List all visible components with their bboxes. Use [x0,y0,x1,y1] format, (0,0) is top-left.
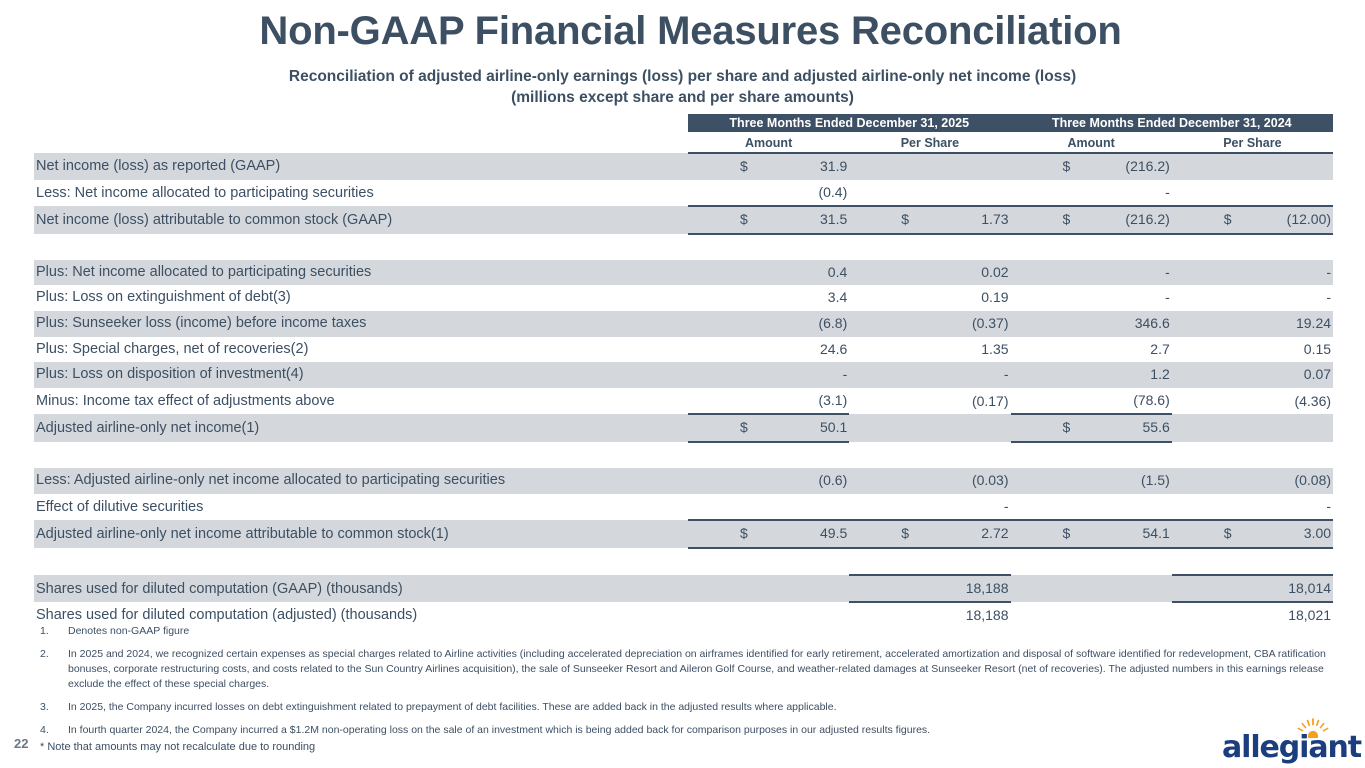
cell-value: 1.35 [981,341,1008,357]
cell-value: 50.1 [820,419,847,435]
table-cell: 24.6 [688,337,849,363]
spacer-row [34,442,1333,468]
cell-value: - [1165,289,1170,305]
cell-value: (216.2) [1125,158,1169,174]
cell-value: 31.9 [820,158,847,174]
table-cell: (0.17) [849,388,1010,415]
table-cell [688,494,849,521]
spacer-row [34,548,1333,575]
page-subtitle: Reconciliation of adjusted airline-only … [0,66,1365,109]
row-label: Adjusted airline-only net income attribu… [34,520,688,548]
table-cell [1011,575,1172,603]
currency-symbol: $ [1172,207,1232,233]
column-header-spacer [34,132,688,153]
table-cell [849,414,1010,442]
cell-value: (1.5) [1141,472,1170,488]
page-title: Non-GAAP Financial Measures Reconciliati… [0,8,1345,54]
table-cell: - [1011,180,1172,207]
table-cell: $50.1 [688,414,849,442]
table-cell: (0.08) [1172,468,1333,494]
footnote-number: 4. [34,723,68,738]
table-cell: $(12.00) [1172,206,1333,234]
table-cell [1172,180,1333,207]
row-label: Plus: Special charges, net of recoveries… [34,337,688,363]
table-cell: $55.6 [1011,414,1172,442]
table-row: Plus: Loss on extinguishment of debt(3)3… [34,285,1333,311]
currency-symbol: $ [1011,207,1071,233]
table-row: Adjusted airline-only net income(1)$50.1… [34,414,1333,442]
footnote-number: 3. [34,700,68,715]
table-cell [688,575,849,603]
currency-symbol: $ [1011,154,1071,180]
cell-value: 2.7 [1150,341,1169,357]
table-cell [1172,414,1333,442]
table-row: Plus: Special charges, net of recoveries… [34,337,1333,363]
table-cell: (0.4) [688,180,849,207]
row-label: Plus: Loss on disposition of investment(… [34,362,688,388]
table-cell: - [849,494,1010,521]
period-header-row: Three Months Ended December 31, 2025 Thr… [34,114,1333,132]
financial-table-wrapper: Three Months Ended December 31, 2025 Thr… [34,114,1333,629]
currency-symbol: $ [1011,521,1071,547]
table-cell: - [1172,260,1333,286]
currency-symbol: $ [688,415,748,441]
table-cell: 346.6 [1011,311,1172,337]
row-label: Plus: Net income allocated to participat… [34,260,688,286]
table-cell: (78.6) [1011,388,1172,415]
rounding-note: * Note that amounts may not recalculate … [40,741,315,753]
table-cell: 18,188 [849,575,1010,603]
spacer-row [34,234,1333,260]
column-header-amount-2024: Amount [1011,132,1172,153]
row-label: Less: Adjusted airline-only net income a… [34,468,688,494]
cell-value: 3.00 [1304,525,1331,541]
cell-value: 0.4 [828,264,847,280]
allegiant-wordmark: allegiant [1222,730,1361,765]
cell-value: (0.08) [1294,472,1331,488]
footnote: 2.In 2025 and 2024, we recognized certai… [34,647,1344,692]
cell-value: 0.19 [981,289,1008,305]
table-cell: 0.4 [688,260,849,286]
slide: Non-GAAP Financial Measures Reconciliati… [0,0,1365,768]
period-header-spacer [34,114,688,132]
cell-value: - [843,366,848,382]
cell-value: (6.8) [818,315,847,331]
cell-value: 346.6 [1135,315,1170,331]
footnote-number: 1. [34,624,68,639]
cell-value: 18,014 [1288,580,1331,596]
table-row: Plus: Loss on disposition of investment(… [34,362,1333,388]
cell-value: 0.02 [981,264,1008,280]
table-row: Plus: Sunseeker loss (income) before inc… [34,311,1333,337]
spacer-cell [34,548,1333,575]
cell-value: (0.37) [972,315,1009,331]
cell-value: 31.5 [820,211,847,227]
cell-value: (0.17) [972,393,1009,409]
cell-value: (0.4) [818,184,847,200]
currency-symbol: $ [688,154,748,180]
table-cell: $3.00 [1172,520,1333,548]
table-row: Effect of dilutive securities-- [34,494,1333,521]
cell-value: (0.03) [972,472,1009,488]
table-cell: - [1011,285,1172,311]
subtitle-line-1: Reconciliation of adjusted airline-only … [0,66,1365,87]
table-row: Minus: Income tax effect of adjustments … [34,388,1333,415]
table-row: Less: Adjusted airline-only net income a… [34,468,1333,494]
table-cell [849,180,1010,207]
footnote-text: In 2025 and 2024, we recognized certain … [68,647,1344,692]
table-cell: $31.9 [688,153,849,180]
row-label: Minus: Income tax effect of adjustments … [34,388,688,415]
cell-value: 1.2 [1150,366,1169,382]
row-label: Shares used for diluted computation (GAA… [34,575,688,603]
column-header-pershare-2024: Per Share [1172,132,1333,153]
table-cell: $(216.2) [1011,206,1172,234]
footnotes-list: 1.Denotes non-GAAP figure2.In 2025 and 2… [34,624,1344,745]
table-cell [849,153,1010,180]
table-cell: 0.07 [1172,362,1333,388]
row-label: Net income (loss) attributable to common… [34,206,688,234]
table-cell: 0.19 [849,285,1010,311]
footnote: 3.In 2025, the Company incurred losses o… [34,700,1344,715]
cell-value: - [1326,264,1331,280]
currency-symbol: $ [688,521,748,547]
cell-value: 19.24 [1296,315,1331,331]
cell-value: - [1165,264,1170,280]
table-cell: $49.5 [688,520,849,548]
footnote: 1.Denotes non-GAAP figure [34,624,1344,639]
table-cell [1011,494,1172,521]
spacer-cell [34,442,1333,468]
cell-value: (0.6) [818,472,847,488]
subtitle-line-2: (millions except share and per share amo… [0,87,1365,108]
cell-value: - [1165,184,1170,200]
table-cell: 1.35 [849,337,1010,363]
footnote-text: In 2025, the Company incurred losses on … [68,700,1344,715]
table-cell: $54.1 [1011,520,1172,548]
reconciliation-table: Three Months Ended December 31, 2025 Thr… [34,114,1333,629]
row-label: Adjusted airline-only net income(1) [34,414,688,442]
table-cell [1172,153,1333,180]
cell-value: 0.15 [1304,341,1331,357]
period-header-2025: Three Months Ended December 31, 2025 [688,114,1011,132]
cell-value: 54.1 [1143,525,1170,541]
table-cell: $1.73 [849,206,1010,234]
table-cell: $2.72 [849,520,1010,548]
table-cell: 18,014 [1172,575,1333,603]
table-row: Net income (loss) attributable to common… [34,206,1333,234]
cell-value: 18,188 [966,580,1009,596]
column-header-amount-2025: Amount [688,132,849,153]
cell-value: 18,021 [1288,607,1331,623]
table-row: Less: Net income allocated to participat… [34,180,1333,207]
table-cell: - [1172,494,1333,521]
cell-value: - [1004,366,1009,382]
cell-value: 55.6 [1143,419,1170,435]
currency-symbol: $ [1172,521,1232,547]
cell-value: 18,188 [966,607,1009,623]
column-header-pershare-2025: Per Share [849,132,1010,153]
table-cell: (3.1) [688,388,849,415]
table-cell: - [1011,260,1172,286]
table-cell: (0.6) [688,468,849,494]
cell-value: - [1004,498,1009,514]
table-cell: - [688,362,849,388]
table-cell: (1.5) [1011,468,1172,494]
table-cell: 19.24 [1172,311,1333,337]
spacer-cell [34,234,1333,260]
page-number: 22 [14,736,28,751]
footnote-number: 2. [34,647,68,692]
cell-value: (12.00) [1287,211,1331,227]
table-cell: $31.5 [688,206,849,234]
table-cell: 0.02 [849,260,1010,286]
footnote-text: Denotes non-GAAP figure [68,624,1344,639]
table-cell: 1.2 [1011,362,1172,388]
row-label: Plus: Loss on extinguishment of debt(3) [34,285,688,311]
cell-value: 49.5 [820,525,847,541]
table-row: Adjusted airline-only net income attribu… [34,520,1333,548]
table-cell: - [1172,285,1333,311]
cell-value: 24.6 [820,341,847,357]
table-row: Shares used for diluted computation (GAA… [34,575,1333,603]
allegiant-logo: allegiant [1222,718,1354,762]
cell-value: 1.73 [981,211,1008,227]
currency-symbol: $ [1011,415,1071,441]
footnote-text: In fourth quarter 2024, the Company incu… [68,723,1344,738]
currency-symbol: $ [849,521,909,547]
row-label: Net income (loss) as reported (GAAP) [34,153,688,180]
cell-value: 3.4 [828,289,847,305]
cell-value: (3.1) [818,392,847,408]
period-header-2024: Three Months Ended December 31, 2024 [1011,114,1334,132]
row-label: Effect of dilutive securities [34,494,688,521]
row-label: Less: Net income allocated to participat… [34,180,688,207]
cell-value: - [1326,498,1331,514]
cell-value: (78.6) [1133,392,1170,408]
currency-symbol: $ [849,207,909,233]
table-row: Plus: Net income allocated to participat… [34,260,1333,286]
cell-value: 2.72 [981,525,1008,541]
cell-value: (4.36) [1294,393,1331,409]
footnote: 4.In fourth quarter 2024, the Company in… [34,723,1344,738]
cell-value: (216.2) [1125,211,1169,227]
table-cell: $(216.2) [1011,153,1172,180]
table-row: Net income (loss) as reported (GAAP)$31.… [34,153,1333,180]
currency-symbol: $ [688,207,748,233]
cell-value: - [1326,289,1331,305]
table-cell: 3.4 [688,285,849,311]
table-cell: (0.37) [849,311,1010,337]
table-cell: 0.15 [1172,337,1333,363]
row-label: Plus: Sunseeker loss (income) before inc… [34,311,688,337]
table-cell: 2.7 [1011,337,1172,363]
column-header-row: Amount Per Share Amount Per Share [34,132,1333,153]
table-cell: (0.03) [849,468,1010,494]
cell-value: 0.07 [1304,366,1331,382]
table-cell: (4.36) [1172,388,1333,415]
table-cell: (6.8) [688,311,849,337]
table-cell: - [849,362,1010,388]
